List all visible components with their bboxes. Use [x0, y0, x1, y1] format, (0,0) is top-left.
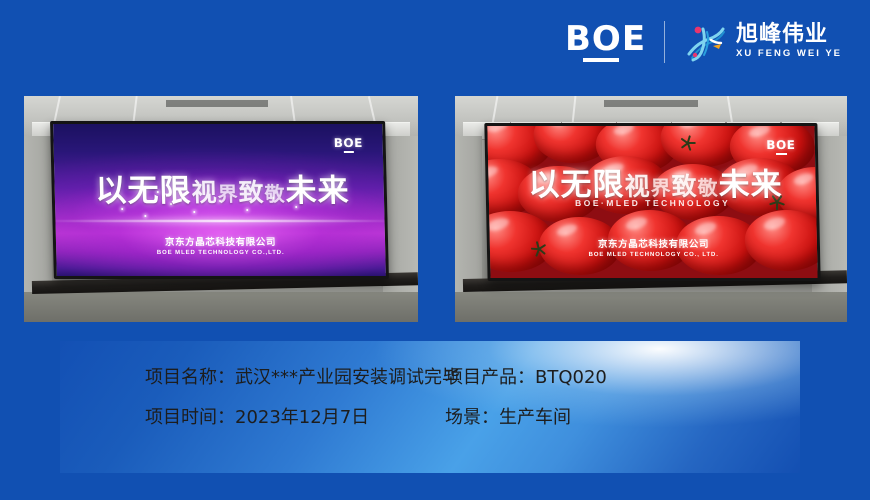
screen-brand-en-right: BOE MLED TECHNOLOGY CO., LTD.	[490, 253, 817, 259]
led-screen-panel-right: BOE 以 无 限 视 界 致 敬 未 来 BOE·MLED TECHNOLOG…	[485, 123, 822, 281]
project-info-band: 项目名称：武汉***产业园安装调试完毕 项目产品：BTQ020 项目时间：202…	[60, 341, 800, 473]
project-product-text: 项目产品：BTQ020	[445, 363, 607, 389]
screen-headline-left: 以 无 限 视 界 致 敬 未 来	[80, 165, 364, 210]
header-logo-group: BOE 旭峰伟业 XU FENG WEI YE	[565, 18, 842, 66]
screen-boe-logo-left: BOE	[333, 136, 362, 150]
led-display-photo-tomatoes: BOE 以 无 限 视 界 致 敬 未 来 BOE·MLED TECHNOLOG…	[455, 96, 847, 322]
info-row: 项目时间：2023年12月7日 场景：生产车间	[145, 403, 607, 429]
logo-divider	[664, 21, 665, 63]
project-scene-text: 场景：生产车间	[445, 403, 571, 429]
info-row: 项目名称：武汉***产业园安装调试完毕 项目产品：BTQ020	[145, 363, 607, 389]
headline-char: 致	[238, 173, 265, 209]
headline-char: 以	[94, 165, 127, 210]
xufengweiye-figure-icon	[683, 20, 727, 64]
partner-logo: 旭峰伟业 XU FENG WEI YE	[683, 20, 842, 64]
headline-char: 界	[217, 178, 239, 207]
lower-wall	[24, 292, 418, 322]
headline-char: 未	[284, 165, 317, 210]
project-info-text: 项目名称：武汉***产业园安装调试完毕 项目产品：BTQ020 项目时间：202…	[145, 363, 607, 443]
partner-logo-text: 旭峰伟业 XU FENG WEI YE	[736, 23, 842, 60]
partner-name-cn: 旭峰伟业	[736, 23, 842, 46]
partner-name-en: XU FENG WEI YE	[736, 48, 842, 60]
boe-wordmark-text: BOE	[565, 22, 646, 56]
lower-wall	[455, 292, 847, 322]
screen-brand-block-right: 京东方晶芯科技有限公司 BOE MLED TECHNOLOGY CO., LTD…	[490, 237, 818, 259]
screen-brand-block-left: 京东方晶芯科技有限公司 BOE MLED TECHNOLOGY CO.,LTD.	[55, 234, 385, 256]
boe-underline-icon	[583, 58, 619, 62]
headline-char: 敬	[264, 178, 286, 207]
project-date-text: 项目时间：2023年12月7日	[145, 403, 445, 429]
screen-brand-en-left: BOE MLED TECHNOLOGY CO.,LTD.	[56, 250, 385, 256]
screen-brand-cn-left: 京东方晶芯科技有限公司	[55, 234, 384, 248]
led-screen-panel-left: BOE 以 无 限 视 界 致 敬 未 来 京东方晶芯科技有限公司	[50, 121, 389, 279]
screen-boe-logo-right: BOE	[767, 138, 796, 152]
project-name-text: 项目名称：武汉***产业园安装调试完毕	[145, 363, 445, 389]
headline-char: 限	[158, 165, 191, 210]
screen-brand-cn-right: 京东方晶芯科技有限公司	[490, 237, 818, 251]
slide-root: BOE 旭峰伟业 XU FENG WEI YE	[0, 0, 870, 500]
screen-subtitle-en-right: BOE·MLED TECHNOLOGY	[489, 198, 816, 208]
led-display-photo-purple: BOE 以 无 限 视 界 致 敬 未 来 京东方晶芯科技有限公司	[24, 96, 418, 322]
headline-char: 无	[126, 165, 159, 210]
headline-char: 来	[317, 165, 350, 210]
headline-char: 视	[191, 173, 218, 209]
boe-logo: BOE	[565, 18, 646, 66]
